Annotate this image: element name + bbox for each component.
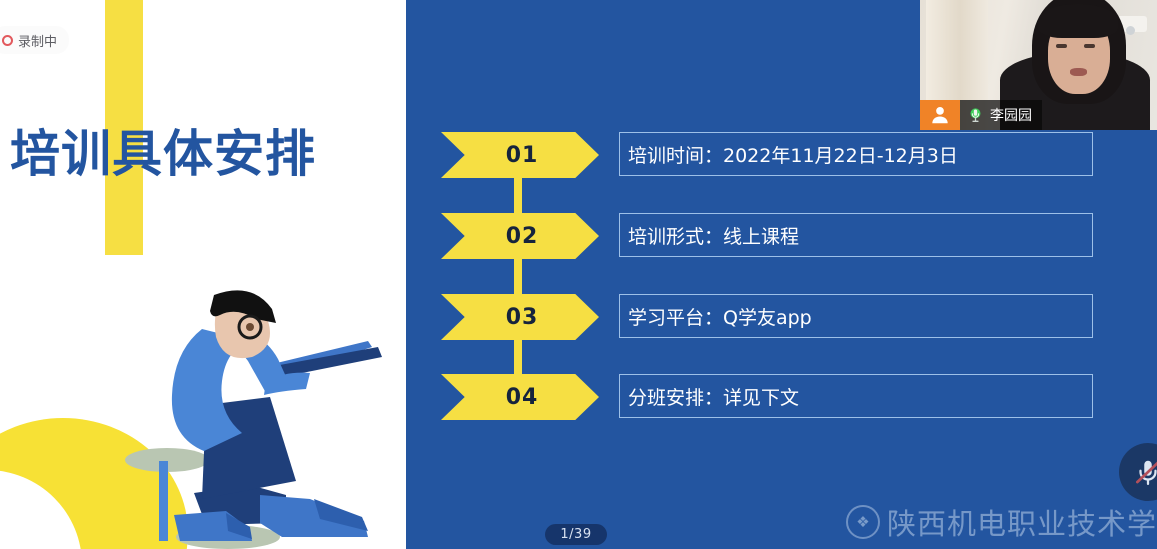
step-arrow-04: 04	[441, 374, 599, 420]
participant-eye-right	[1084, 44, 1095, 48]
step-text: 培训形式：线上课程	[620, 222, 799, 249]
person-with-laptop-illustration	[110, 285, 406, 549]
step-text: 分班安排：详见下文	[620, 383, 799, 410]
page-title: 培训具体安排	[10, 124, 390, 184]
step-number: 04	[506, 385, 539, 410]
microphone-muted-button[interactable]	[1119, 443, 1157, 501]
agenda-row: 04 分班安排：详见下文	[406, 374, 1157, 420]
agenda-row: 03 学习平台：Q学友app	[406, 294, 1157, 340]
step-number: 01	[506, 143, 539, 168]
step-textbox-04: 分班安排：详见下文	[619, 374, 1093, 418]
seal-icon: ❖	[846, 505, 880, 539]
video-wall-dot	[1126, 26, 1135, 35]
step-textbox-03: 学习平台：Q学友app	[619, 294, 1093, 338]
step-arrow-02: 02	[441, 213, 599, 259]
participant-video-tile[interactable]: 李园园	[920, 0, 1157, 130]
slide-left-panel: 培训具体安排 录制中	[0, 0, 406, 549]
microphone-muted-icon	[1133, 457, 1157, 487]
microphone-icon	[967, 107, 984, 124]
step-number: 03	[506, 305, 539, 330]
meeting-screen: 培训具体安排 录制中	[0, 0, 1157, 549]
step-number: 02	[506, 224, 539, 249]
step-text: 学习平台：Q学友app	[620, 303, 812, 330]
participant-name-chip: 李园园	[960, 100, 1042, 130]
step-arrow-03: 03	[441, 294, 599, 340]
avatar	[920, 100, 960, 130]
recording-dot-icon	[2, 35, 13, 46]
step-textbox-01: 培训时间：2022年11月22日-12月3日	[619, 132, 1093, 176]
step-text: 培训时间：2022年11月22日-12月3日	[620, 141, 958, 168]
recording-label: 录制中	[18, 31, 57, 50]
agenda-row: 02 培训形式：线上课程	[406, 213, 1157, 259]
recording-badge: 录制中	[0, 26, 69, 54]
agenda-row: 01 培训时间：2022年11月22日-12月3日	[406, 132, 1157, 178]
slide-page-indicator: 1/39	[545, 524, 607, 545]
participant-eye-left	[1056, 44, 1067, 48]
participant-mouth	[1070, 68, 1087, 76]
participant-name: 李园园	[990, 105, 1032, 125]
step-textbox-02: 培训形式：线上课程	[619, 213, 1093, 257]
watermark-text: 陕西机电职业技术学院	[887, 501, 1157, 543]
person-icon	[929, 104, 951, 126]
institution-watermark: ❖ 陕西机电职业技术学院	[846, 500, 1157, 544]
step-arrow-01: 01	[441, 132, 599, 178]
slide-page-text: 1/39	[560, 527, 591, 542]
participant-label-bar: 李园园	[920, 100, 1042, 130]
participant-hair-top	[1038, 4, 1118, 38]
